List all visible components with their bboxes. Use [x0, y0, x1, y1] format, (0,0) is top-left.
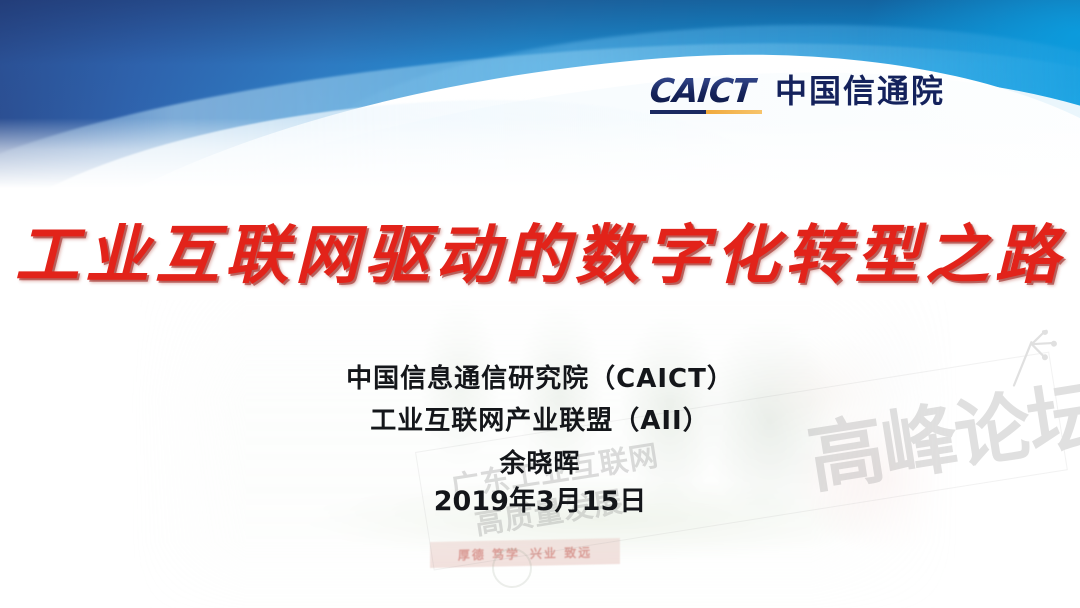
caict-wordmark: CAICT [648, 74, 763, 107]
page-title: 工业互联网驱动的数字化转型之路 [0, 204, 1080, 296]
subtitle-alliance: 工业互联网产业联盟（AII） [0, 400, 1080, 437]
presentation-slide: 厚德 笃学 兴业 致远 广东工业互联网 高质量发展 高峰论坛 [0, 0, 1080, 608]
presentation-date: 2019年3月15日 [0, 479, 1080, 518]
caict-chinese-name: 中国信通院 [775, 75, 945, 107]
campus-seal-icon [492, 548, 532, 588]
header-bottom-fade [0, 118, 1080, 190]
campus-slogan-right: 兴业 致远 [530, 543, 592, 561]
caict-logo-mark: CAICT [650, 74, 762, 114]
logo-underline-gold [706, 110, 762, 114]
presenter-name: 余晓晖 [0, 443, 1080, 480]
subtitle-organization: 中国信息通信研究院（CAICT） [0, 358, 1080, 395]
logo-underline-navy [650, 110, 706, 114]
caict-logo-underline [650, 110, 762, 114]
caict-logo: CAICT 中国信通院 [650, 74, 945, 114]
